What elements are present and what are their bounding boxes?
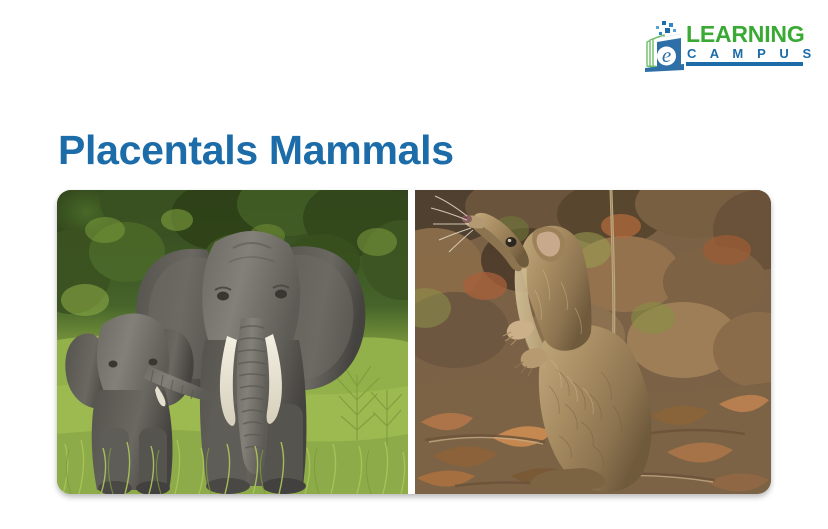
- logo-underline-bar: [686, 62, 803, 66]
- logo-campus-text: C A M P U S: [686, 46, 804, 61]
- brand-logo[interactable]: e LEARNING C A M P U S: [640, 14, 800, 76]
- rodent-photo: [415, 190, 771, 494]
- svg-text:e: e: [662, 43, 671, 67]
- elephant-photo: [57, 190, 408, 494]
- logo-wordmark: LEARNING C A M P U S: [686, 22, 804, 66]
- image-gallery: [57, 190, 771, 494]
- book-stack-icon: e: [644, 20, 688, 72]
- page-title: Placentals Mammals: [58, 127, 454, 174]
- gallery-divider: [408, 190, 415, 494]
- logo-learning-text: LEARNING: [686, 22, 804, 46]
